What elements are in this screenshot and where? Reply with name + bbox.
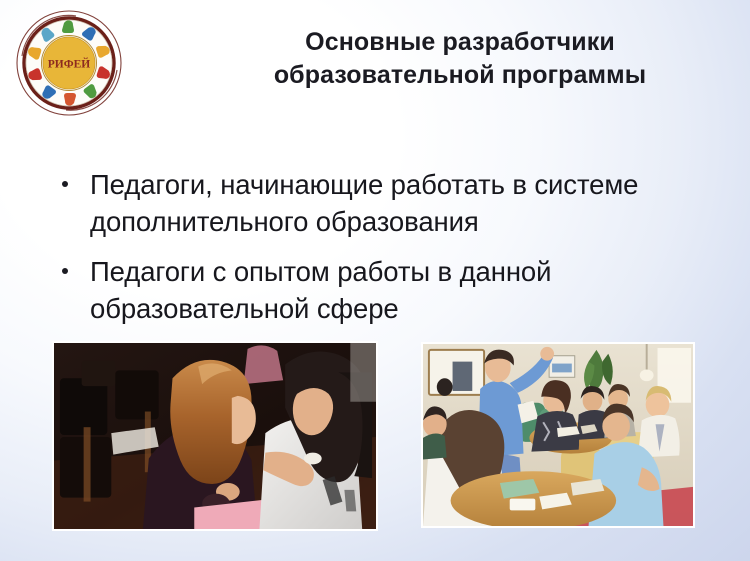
bullet-marker-icon — [62, 166, 90, 187]
presentation-slide: РИФЕЙ Основные разработчики образователь… — [0, 0, 750, 561]
page-title: Основные разработчики образовательной пр… — [210, 26, 710, 92]
list-item: Педагоги, начинающие работать в системе … — [62, 166, 702, 241]
rifey-logo: РИФЕЙ — [14, 8, 124, 118]
rifey-emblem-icon: РИФЕЙ — [14, 8, 124, 118]
list-item: Педагоги с опытом работы в данной образо… — [62, 253, 702, 328]
logo-center-text: РИФЕЙ — [48, 57, 91, 71]
bullet-text: Педагоги с опытом работы в данной образо… — [90, 253, 702, 328]
bullet-list: Педагоги, начинающие работать в системе … — [62, 166, 702, 340]
photo-left-image — [54, 343, 376, 529]
bullet-text: Педагоги, начинающие работать в системе … — [90, 166, 702, 241]
bullet-marker-icon — [62, 253, 90, 274]
title-line-1: Основные разработчики — [210, 26, 710, 59]
title-line-2: образовательной программы — [210, 59, 710, 92]
photo-two-students-talking — [52, 341, 378, 531]
photo-right-image — [423, 344, 693, 526]
photo-group-seminar — [421, 342, 695, 528]
